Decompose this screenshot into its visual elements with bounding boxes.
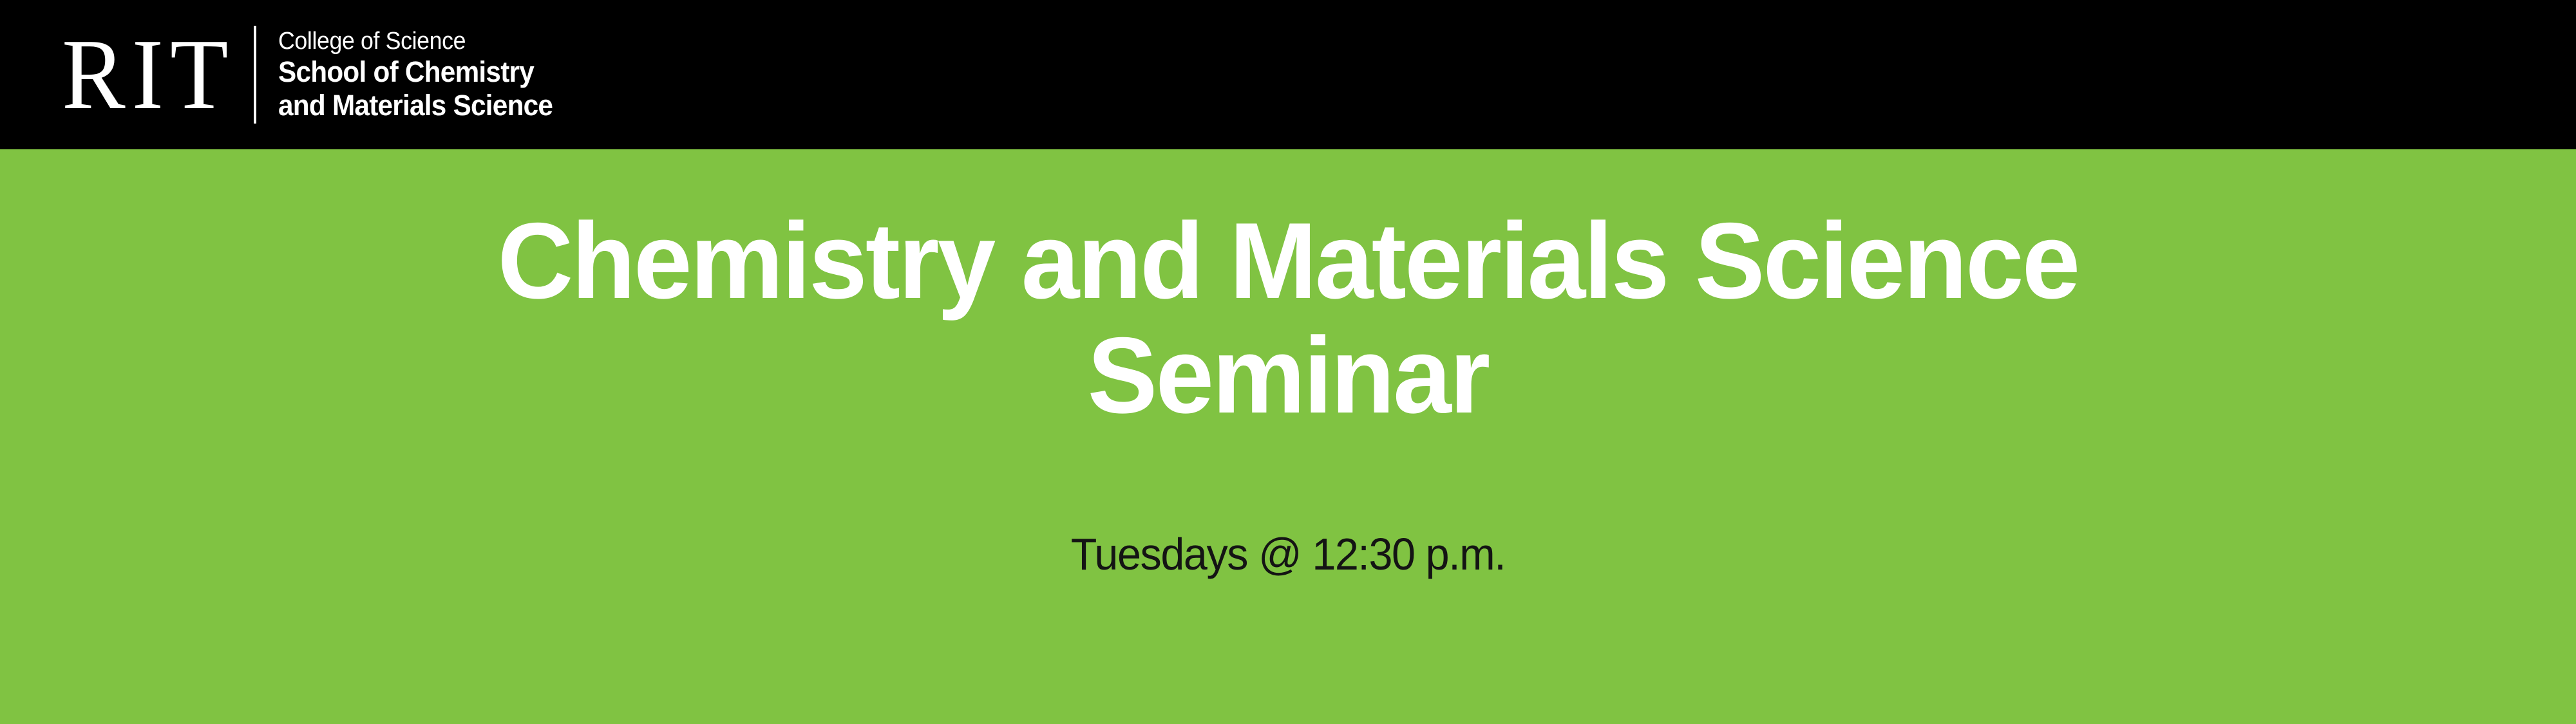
page-title-line-1: Chemistry and Materials Science (39, 203, 2537, 318)
rit-logo-lockup[interactable]: RIT College of Science School of Chemist… (62, 23, 571, 126)
green-content-area: Chemistry and Materials Science Seminar … (0, 149, 2576, 724)
unit-name-block: College of Science School of Chemistry a… (256, 23, 570, 126)
college-name-label: College of Science (278, 27, 553, 55)
rit-wordmark: RIT (62, 20, 254, 129)
schedule-subtitle: Tuesdays @ 12:30 p.m. (64, 529, 2512, 579)
page-title-line-2: Seminar (39, 318, 2537, 432)
school-name-line-1: School of Chemistry (278, 55, 553, 89)
school-name-line-2: and Materials Science (278, 89, 553, 122)
header-bar: RIT College of Science School of Chemist… (0, 0, 2576, 149)
page-title: Chemistry and Materials Science Seminar (39, 203, 2537, 432)
seminar-banner: RIT College of Science School of Chemist… (0, 0, 2576, 724)
